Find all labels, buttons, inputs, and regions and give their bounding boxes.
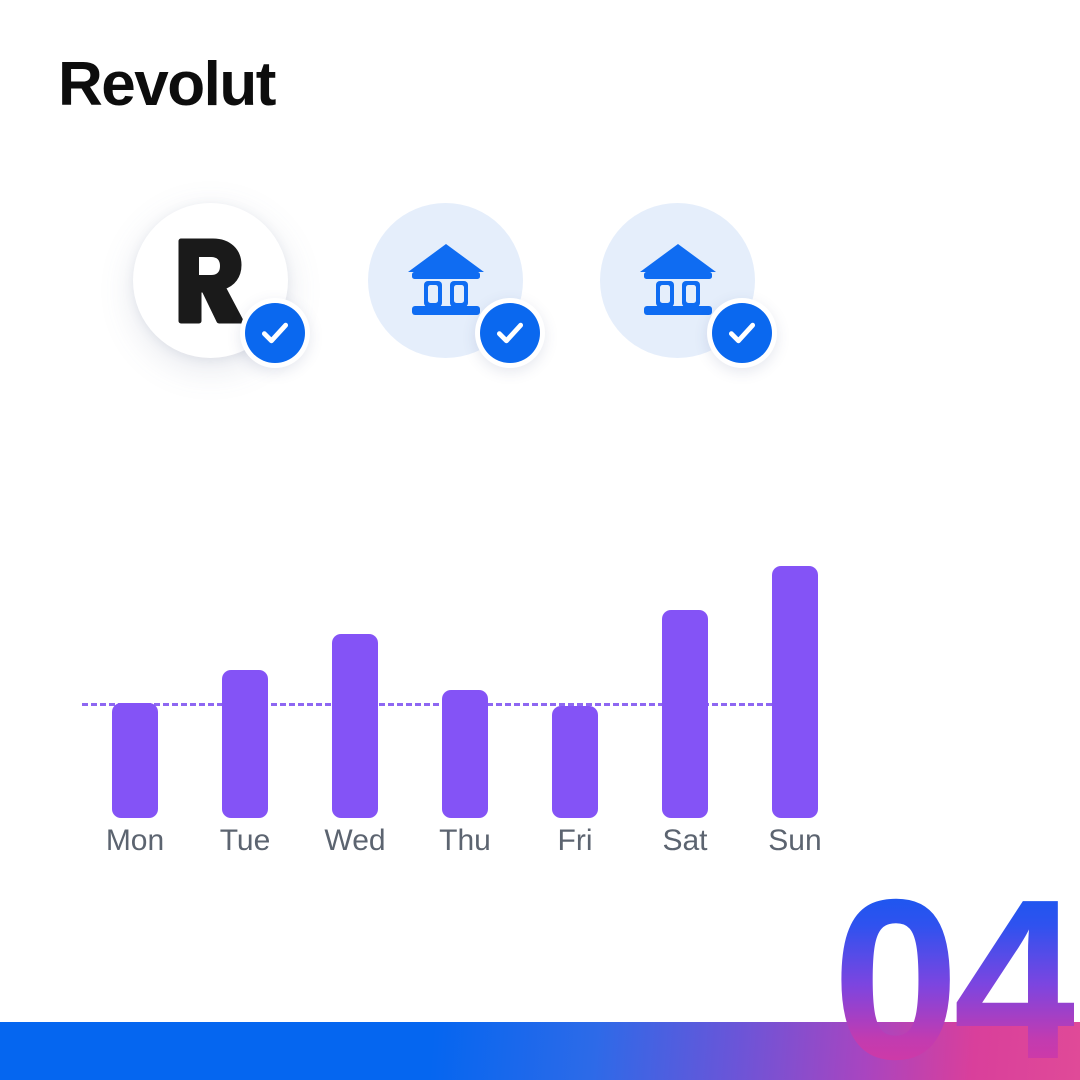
verified-badge — [707, 298, 777, 368]
verified-badge-fill — [480, 303, 540, 363]
verified-badge-fill — [245, 303, 305, 363]
chart-x-label: Wed — [300, 826, 410, 856]
chart-bar-group[interactable] — [772, 550, 818, 818]
revolut-r-logo-icon — [171, 235, 251, 327]
bank-icon — [404, 242, 488, 320]
chart-bar-group[interactable] — [332, 550, 378, 818]
chart-bar-group[interactable] — [442, 550, 488, 818]
chart-bar-group[interactable] — [112, 550, 158, 818]
chart-bar[interactable] — [222, 670, 268, 818]
verified-badge — [240, 298, 310, 368]
chart-bar-group[interactable] — [222, 550, 268, 818]
chart-bar[interactable] — [112, 703, 158, 818]
chart-x-label: Tue — [190, 826, 300, 856]
account-item-bank-1[interactable] — [368, 203, 523, 358]
chart-x-axis-labels: MonTueWedThuFriSatSun — [80, 826, 840, 870]
chart-x-label: Sun — [740, 826, 850, 856]
chart-bar[interactable] — [772, 566, 818, 818]
chart-bar[interactable] — [332, 634, 378, 818]
account-item-revolut[interactable] — [133, 203, 288, 358]
chart-x-label: Fri — [520, 826, 630, 856]
chart-bar[interactable] — [552, 706, 598, 818]
chart-bar-group[interactable] — [662, 550, 708, 818]
check-icon — [725, 316, 759, 350]
chart-bar-group[interactable] — [552, 550, 598, 818]
check-icon — [258, 316, 292, 350]
weekly-bar-chart: MonTueWedThuFriSatSun — [80, 550, 840, 880]
chart-plot-area — [80, 550, 840, 818]
verified-badge — [475, 298, 545, 368]
bank-icon — [636, 242, 720, 320]
account-item-bank-2[interactable] — [600, 203, 755, 358]
chart-x-label: Mon — [80, 826, 190, 856]
check-icon — [493, 316, 527, 350]
chart-bar[interactable] — [662, 610, 708, 818]
brand-wordmark: Revolut — [58, 54, 275, 116]
chart-x-label: Sat — [630, 826, 740, 856]
chart-x-label: Thu — [410, 826, 520, 856]
slide-canvas: Revolut — [0, 0, 1080, 1080]
chart-bar[interactable] — [442, 690, 488, 818]
page-number: 04 — [832, 866, 1074, 1080]
verified-badge-fill — [712, 303, 772, 363]
verified-accounts-row — [133, 203, 833, 403]
